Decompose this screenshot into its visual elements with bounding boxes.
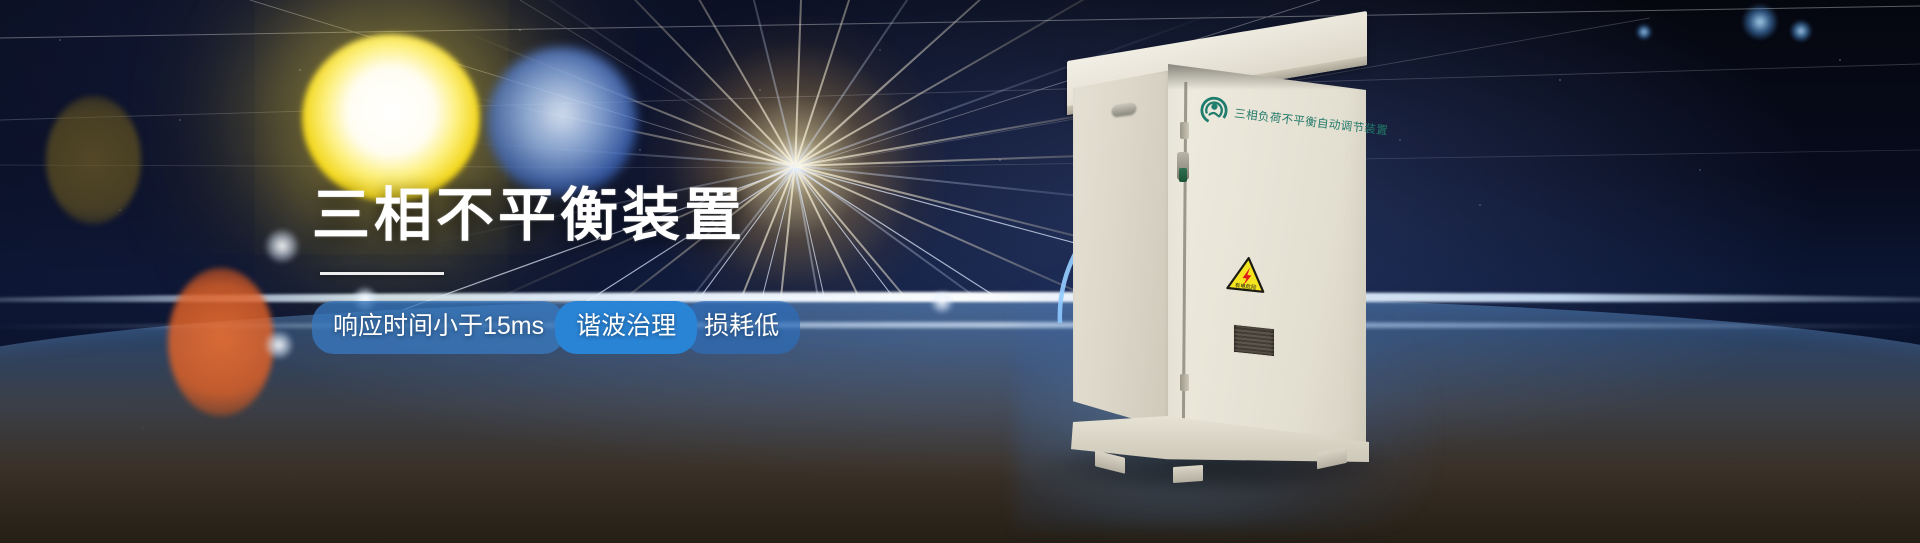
earth-horizon-rim-secondary (0, 322, 1920, 328)
feature-tag-list: 响应时间小于15ms 谐波治理 损耗低 (312, 301, 952, 354)
high-voltage-warning-sticker: 有电危险 (1225, 254, 1269, 294)
yellow-glow-orb (302, 34, 480, 202)
cabinet-side-panel (1073, 70, 1171, 430)
cabinet-foot (1173, 465, 1203, 483)
cabinet-hinge (1180, 374, 1189, 391)
blue-bokeh-orb (487, 47, 637, 197)
blue-flare (1636, 24, 1652, 40)
hero-copy: 三相不平衡装置 响应时间小于15ms 谐波治理 损耗低 (312, 185, 952, 354)
feature-tag-low-loss[interactable]: 损耗低 (683, 301, 800, 354)
olive-bokeh-orb (46, 96, 141, 224)
company-logo-icon (1199, 95, 1229, 125)
earth-horizon-rim (0, 292, 1920, 302)
product-image: 三相负荷不平衡自动调节装置 有电危险 (1055, 18, 1485, 488)
cabinet-lock-tab (1179, 168, 1187, 182)
feature-tag-response-time[interactable]: 响应时间小于15ms (312, 301, 565, 354)
hero-banner: 三相不平衡装置 响应时间小于15ms 谐波治理 损耗低 (0, 0, 1920, 543)
page-title: 三相不平衡装置 (312, 185, 952, 248)
blue-flare (1742, 4, 1778, 40)
light-spark (264, 330, 294, 360)
feature-tag-harmonic[interactable]: 谐波治理 (555, 301, 697, 354)
cabinet: 三相负荷不平衡自动调节装置 有电危险 (1055, 18, 1485, 488)
title-divider (320, 272, 444, 275)
orange-bokeh-orb (168, 268, 274, 416)
cabinet-hinge (1180, 122, 1189, 139)
cabinet-vent-grille (1233, 324, 1275, 357)
light-spark (264, 228, 300, 264)
blue-flare (1790, 20, 1812, 42)
